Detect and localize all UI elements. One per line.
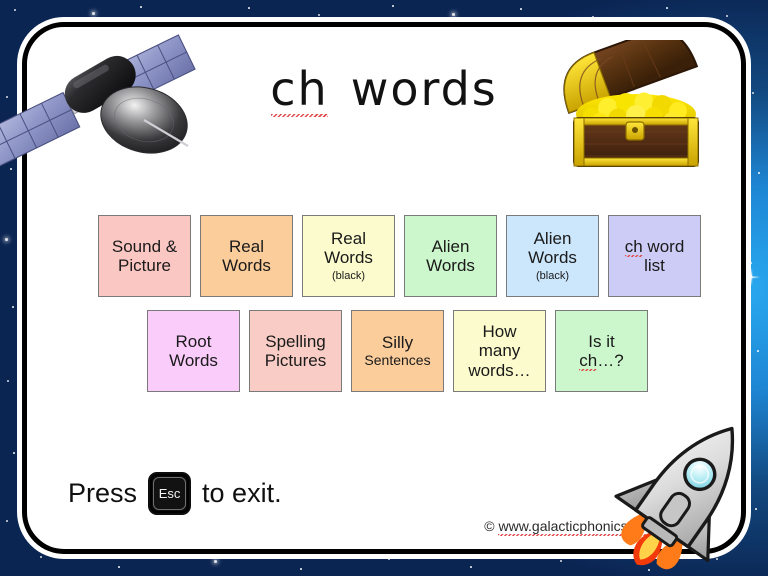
satellite-icon xyxy=(0,18,212,178)
tile-label-line1: How xyxy=(482,322,516,341)
button-sound-and-picture[interactable]: Sound & Picture xyxy=(98,215,191,297)
tile-digraph: ch xyxy=(579,351,597,370)
tile-label-line1: Sound & xyxy=(112,237,177,256)
tile-label-line2: Words xyxy=(222,256,271,275)
tile-label-line1: Alien xyxy=(534,229,572,248)
tile-label-line1: Is it xyxy=(588,332,614,351)
button-spelling-pictures[interactable]: Spelling Pictures xyxy=(249,310,342,392)
button-how-many-words[interactable]: How many words… xyxy=(453,310,546,392)
tile-label-line1: Silly xyxy=(382,333,413,352)
press-text: Press xyxy=(68,478,137,509)
rocket-icon xyxy=(600,408,768,576)
exit-text: to exit. xyxy=(202,478,282,509)
tile-label-line1: Spelling xyxy=(265,332,326,351)
tile-label-line2: Words xyxy=(169,351,218,370)
tile-label-line2: ch…? xyxy=(579,351,623,370)
tile-sublabel: (black) xyxy=(536,270,569,282)
button-alien-words[interactable]: Alien Words xyxy=(404,215,497,297)
menu-row-1: Sound & Picture Real Words Real Words (b… xyxy=(98,215,701,297)
title-digraph: ch xyxy=(270,62,328,116)
tile-label-line2: Words xyxy=(426,256,475,275)
press-esc-to-exit: Press Esc to exit. xyxy=(68,472,282,515)
esc-key-icon[interactable]: Esc xyxy=(148,472,191,515)
tile-label-line2: Words xyxy=(528,248,577,267)
menu-row-2: Root Words Spelling Pictures Silly Sente… xyxy=(147,310,648,392)
slide-stage: chwords Sound & Picture Real Words Real … xyxy=(0,0,768,576)
tile-label-line2: Words xyxy=(324,248,373,267)
tile-label-tail: …? xyxy=(597,351,623,370)
treasure-chest-icon xyxy=(556,40,714,180)
button-root-words[interactable]: Root Words xyxy=(147,310,240,392)
title-rest: words xyxy=(351,62,498,116)
esc-key-label: Esc xyxy=(153,477,186,510)
tile-label-word: word xyxy=(647,237,684,256)
tile-label-line3: words… xyxy=(468,361,530,380)
button-silly-sentences[interactable]: Silly Sentences xyxy=(351,310,444,392)
button-is-it-ch[interactable]: Is it ch…? xyxy=(555,310,648,392)
tile-label-line2: many xyxy=(479,341,521,360)
tile-label-line1: ch word xyxy=(625,237,685,256)
button-real-words[interactable]: Real Words xyxy=(200,215,293,297)
tile-label-line2: Pictures xyxy=(265,351,326,370)
tile-digraph: ch xyxy=(625,237,643,256)
copyright-symbol: © xyxy=(484,518,494,534)
tile-sublabel: Sentences xyxy=(364,353,430,369)
tile-label-line2: list xyxy=(644,256,665,275)
tile-sublabel: (black) xyxy=(332,270,365,282)
button-real-words-black[interactable]: Real Words (black) xyxy=(302,215,395,297)
tile-label-line1: Real xyxy=(331,229,366,248)
button-ch-word-list[interactable]: ch word list xyxy=(608,215,701,297)
tile-label-line1: Root xyxy=(176,332,212,351)
tile-label-line1: Alien xyxy=(432,237,470,256)
button-alien-words-black[interactable]: Alien Words (black) xyxy=(506,215,599,297)
tile-label-line1: Real xyxy=(229,237,264,256)
tile-label-line2: Picture xyxy=(118,256,171,275)
